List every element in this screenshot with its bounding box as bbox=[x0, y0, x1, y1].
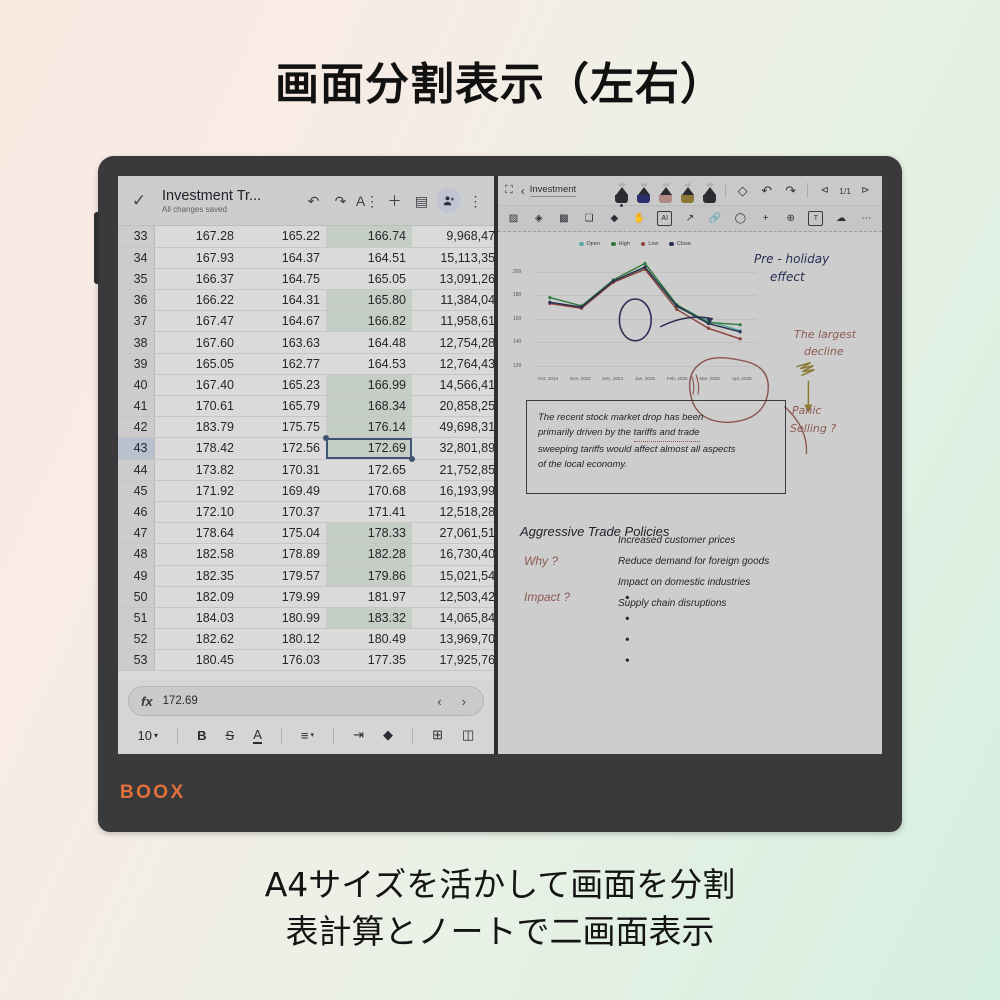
x-tick-label: Oct, 2024 bbox=[532, 376, 564, 381]
cell-c1[interactable]: 167.47 bbox=[154, 311, 240, 332]
pen-3-icon[interactable]: 1.0 bbox=[657, 179, 674, 203]
textbox-line-4: of the local economy. bbox=[538, 457, 774, 472]
divider bbox=[412, 727, 413, 744]
row-header[interactable]: 42 bbox=[118, 417, 154, 438]
check-icon[interactable]: ✓ bbox=[122, 191, 156, 211]
legend-swatch bbox=[641, 242, 646, 247]
cell-c4[interactable]: 12,503,422 bbox=[412, 586, 494, 607]
cell-c1[interactable]: 167.93 bbox=[154, 247, 240, 268]
cell-c3[interactable]: 166.99 bbox=[326, 374, 412, 395]
cell-c1[interactable]: 165.05 bbox=[154, 353, 240, 374]
cell-c4[interactable]: 21,752,859 bbox=[412, 459, 494, 480]
cell-c3[interactable]: 170.68 bbox=[326, 480, 412, 501]
cell-c4[interactable]: 12,518,282 bbox=[412, 501, 494, 522]
series-point bbox=[739, 330, 742, 333]
zoom-icon[interactable]: ⊕ bbox=[783, 211, 798, 226]
wrap-text-button[interactable]: ⇥ bbox=[353, 727, 364, 743]
table-row[interactable]: 35166.37164.75165.0513,091,267 bbox=[118, 268, 494, 289]
spreadsheet-pane: ✓ Investment Tr... All changes saved ↶ ↷… bbox=[118, 176, 494, 754]
cell-c4[interactable]: 32,801,898 bbox=[412, 438, 494, 459]
annotation-pre-holiday: Pre - holiday bbox=[754, 252, 829, 266]
series-point bbox=[612, 280, 615, 283]
cell-c2[interactable]: 176.03 bbox=[240, 650, 326, 671]
cell-c3[interactable]: 178.33 bbox=[326, 523, 412, 544]
x-tick-label: Mar, 2025 bbox=[693, 376, 725, 381]
cell-c3[interactable]: 180.49 bbox=[326, 629, 412, 650]
cell-c4[interactable]: 11,958,617 bbox=[412, 311, 494, 332]
divider bbox=[281, 727, 282, 744]
cell-c2[interactable]: 169.49 bbox=[240, 480, 326, 501]
cell-c3[interactable]: 166.82 bbox=[326, 311, 412, 332]
pen-body bbox=[637, 195, 650, 203]
cell-c1[interactable]: 180.45 bbox=[154, 650, 240, 671]
page-prev-icon[interactable]: ⊲ bbox=[815, 185, 834, 196]
handwritten-textbox: The recent stock market drop has been pr… bbox=[526, 400, 786, 494]
comment-icon[interactable]: ▤ bbox=[409, 194, 434, 208]
person-add-glyph bbox=[443, 195, 455, 207]
table-row[interactable]: 47178.64175.04178.3327,061,510 bbox=[118, 523, 494, 544]
series-line-low bbox=[550, 269, 740, 339]
cell-c4[interactable]: 15,021,549 bbox=[412, 565, 494, 586]
legend-item: Low bbox=[641, 241, 659, 247]
boox-logo: BOOX bbox=[120, 782, 186, 804]
table-row[interactable]: 46172.10170.37171.4112,518,282 bbox=[118, 501, 494, 522]
note-title: Investment bbox=[530, 184, 576, 197]
x-tick-label: Nov, 2024 bbox=[564, 376, 596, 381]
boox-device: ✓ Investment Tr... All changes saved ↶ ↷… bbox=[98, 156, 902, 832]
cell-c3[interactable]: 172.65 bbox=[326, 459, 412, 480]
caption-line-1: A4サイズを活かして画面を分割 bbox=[0, 862, 1000, 909]
cell-c2[interactable]: 170.31 bbox=[240, 459, 326, 480]
pen-body bbox=[659, 195, 672, 203]
table-row[interactable]: 52182.62180.12180.4913,969,709 bbox=[118, 629, 494, 650]
cell-c1[interactable]: 167.40 bbox=[154, 374, 240, 395]
shape-icon[interactable]: ❏ bbox=[582, 211, 597, 226]
page-indicator: 1/1 bbox=[839, 186, 851, 196]
row-header[interactable]: 45 bbox=[118, 480, 154, 501]
cell-c3[interactable]: 164.48 bbox=[326, 332, 412, 353]
x-tick-label: Dec, 2024 bbox=[597, 376, 629, 381]
cell-c3[interactable]: 171.41 bbox=[326, 501, 412, 522]
table-row[interactable]: 37167.47164.67166.8211,958,617 bbox=[118, 311, 494, 332]
undo-icon[interactable]: ↶ bbox=[301, 194, 326, 208]
legend-item: Open bbox=[579, 241, 600, 247]
cell-c3[interactable]: 168.34 bbox=[326, 396, 412, 417]
cell-c4[interactable]: 13,969,709 bbox=[412, 629, 494, 650]
cell-c1[interactable]: 167.60 bbox=[154, 332, 240, 353]
sheet-table: 33167.28165.22166.749,968,47434167.93164… bbox=[118, 226, 494, 671]
pen-nib bbox=[638, 187, 650, 195]
series-point bbox=[548, 301, 551, 304]
eraser-icon[interactable]: ◇ bbox=[733, 183, 752, 199]
cell-c3[interactable]: 182.28 bbox=[326, 544, 412, 565]
legend-swatch bbox=[669, 242, 674, 247]
redo-icon[interactable]: ↷ bbox=[781, 183, 800, 199]
pen-nib bbox=[682, 187, 694, 195]
caption-line-2: 表計算とノートで二画面表示 bbox=[0, 909, 1000, 956]
format-toolbar: 10 ▾ B S A ≡ ▾ ⇥ ◆ ⊞ ◫ bbox=[118, 716, 494, 754]
sheet-grid[interactable]: 33167.28165.22166.749,968,47434167.93164… bbox=[118, 226, 494, 680]
back-icon[interactable]: ‹ bbox=[521, 184, 525, 198]
outline-bullet-2: Reduce demand for foreign goods bbox=[618, 556, 769, 567]
cell-c2[interactable]: 180.12 bbox=[240, 629, 326, 650]
cell-c3[interactable]: 179.86 bbox=[326, 565, 412, 586]
font-size-value: 10 bbox=[138, 728, 152, 743]
cell-c3[interactable]: 172.69 bbox=[326, 438, 412, 459]
cell-c4[interactable]: 27,061,510 bbox=[412, 523, 494, 544]
table-row[interactable]: 41170.61165.79168.3420,858,254 bbox=[118, 396, 494, 417]
cell-c1[interactable]: 182.09 bbox=[154, 586, 240, 607]
note-toolbar: ⛶ ‹ Investment 1.01.01.01.01.0 ◇ ↶ ↷ ⊲ 1… bbox=[498, 176, 882, 206]
layers-icon[interactable]: ◈ bbox=[531, 211, 546, 226]
table-row[interactable]: 43178.42172.56172.6932,801,898 bbox=[118, 438, 494, 459]
gridline bbox=[534, 366, 756, 367]
annotation-panic: Panic bbox=[792, 404, 821, 417]
cell-c1[interactable]: 173.82 bbox=[154, 459, 240, 480]
strikethrough-button[interactable]: S bbox=[225, 728, 234, 743]
formula-bar[interactable]: fx 172.69 ‹ › bbox=[128, 686, 484, 716]
table-row[interactable]: 33167.28165.22166.749,968,474 bbox=[118, 226, 494, 247]
cell-c1[interactable]: 166.22 bbox=[154, 290, 240, 311]
chart-series-svg bbox=[534, 254, 756, 366]
cell-c1[interactable]: 178.64 bbox=[154, 523, 240, 544]
cell-c2[interactable]: 175.04 bbox=[240, 523, 326, 544]
pen-4-icon[interactable]: 1.0 bbox=[679, 179, 696, 203]
cell-c2[interactable]: 179.57 bbox=[240, 565, 326, 586]
pen-body bbox=[615, 195, 628, 203]
series-point bbox=[707, 327, 710, 330]
outline-bullet-1: Increased customer prices bbox=[618, 535, 735, 546]
annotation-largest-decline: The largest bbox=[794, 328, 856, 341]
note-pane: ⛶ ‹ Investment 1.01.01.01.01.0 ◇ ↶ ↷ ⊲ 1… bbox=[498, 176, 882, 754]
pen-nib bbox=[616, 187, 628, 195]
formula-next-button[interactable]: › bbox=[457, 694, 471, 709]
device-chin: BOOX bbox=[98, 754, 902, 832]
series-point bbox=[739, 323, 742, 326]
row-header[interactable]: 49 bbox=[118, 565, 154, 586]
lasso-select-icon[interactable]: ▩ bbox=[556, 211, 571, 226]
ink-bullet bbox=[626, 659, 629, 662]
add-icon[interactable]: ＋ bbox=[382, 194, 407, 208]
outline-impact: Impact ? bbox=[524, 590, 570, 604]
row-header[interactable]: 43 bbox=[118, 438, 154, 459]
pen-1-icon[interactable]: 1.0 bbox=[613, 179, 630, 203]
pen-2-icon[interactable]: 1.0 bbox=[635, 179, 652, 203]
row-header[interactable]: 47 bbox=[118, 523, 154, 544]
cell-c4[interactable]: 20,858,254 bbox=[412, 396, 494, 417]
cell-c1[interactable]: 184.03 bbox=[154, 607, 240, 628]
hand-touch-icon[interactable]: ✋ bbox=[632, 211, 647, 226]
cell-c2[interactable]: 179.99 bbox=[240, 586, 326, 607]
y-tick-label: 120 bbox=[513, 363, 521, 369]
cell-c1[interactable]: 166.37 bbox=[154, 268, 240, 289]
chart-legend: OpenHighLowClose bbox=[512, 238, 758, 247]
stock-chart: OpenHighLowClose 120140160180200 Oct, 20… bbox=[512, 238, 758, 384]
align-glyph: ≡ bbox=[301, 728, 309, 743]
cell-c2[interactable]: 165.79 bbox=[240, 396, 326, 417]
insert-column-button[interactable]: ◫ bbox=[462, 727, 474, 743]
legend-item: Close bbox=[669, 241, 691, 247]
legend-label: High bbox=[619, 241, 630, 247]
outline-why: Why ? bbox=[524, 554, 558, 568]
series-point bbox=[707, 322, 710, 325]
pen-nib bbox=[704, 187, 716, 195]
y-tick-label: 160 bbox=[513, 316, 521, 322]
text-color-button[interactable]: A bbox=[253, 727, 262, 744]
cell-c3[interactable]: 164.53 bbox=[326, 353, 412, 374]
row-header[interactable]: 34 bbox=[118, 247, 154, 268]
page-title: 画面分割表示（左右） bbox=[0, 48, 1000, 112]
cell-c4[interactable]: 14,065,845 bbox=[412, 607, 494, 628]
row-header[interactable]: 50 bbox=[118, 586, 154, 607]
cell-c2[interactable]: 164.67 bbox=[240, 311, 326, 332]
redo-icon[interactable]: ↷ bbox=[328, 194, 353, 208]
format-text-icon[interactable]: A⋮ bbox=[355, 194, 380, 208]
cell-c1[interactable]: 171.92 bbox=[154, 480, 240, 501]
align-button[interactable]: ≡ ▾ bbox=[301, 728, 314, 743]
cell-c4[interactable]: 11,384,047 bbox=[412, 290, 494, 311]
textbox-line-2b: tariffs and trade bbox=[634, 425, 700, 441]
cell-c2[interactable]: 165.22 bbox=[240, 226, 326, 247]
table-row[interactable]: 44173.82170.31172.6521,752,859 bbox=[118, 459, 494, 480]
cell-c4[interactable]: 16,193,994 bbox=[412, 480, 494, 501]
selection-handle[interactable] bbox=[323, 435, 329, 441]
textbox-line-2: primarily driven by the tariffs and trad… bbox=[538, 425, 774, 441]
pattern-fill-icon[interactable]: ▨ bbox=[506, 211, 521, 226]
merge-cells-button[interactable]: ⊞ bbox=[432, 727, 443, 743]
row-header[interactable]: 52 bbox=[118, 629, 154, 650]
divider bbox=[807, 183, 808, 198]
textbox-line-2a: primarily driven by the bbox=[538, 427, 634, 438]
row-header[interactable]: 36 bbox=[118, 290, 154, 311]
save-status: All changes saved bbox=[162, 205, 299, 214]
row-header[interactable]: 44 bbox=[118, 459, 154, 480]
x-tick-label: Feb, 2025 bbox=[661, 376, 693, 381]
table-row[interactable]: 40167.40165.23166.9914,566,410 bbox=[118, 374, 494, 395]
annotation-panic-2: Selling ? bbox=[790, 422, 836, 435]
cell-c4[interactable]: 16,730,407 bbox=[412, 544, 494, 565]
table-row[interactable]: 42183.79175.75176.1449,698,313 bbox=[118, 417, 494, 438]
cell-c1[interactable]: 182.58 bbox=[154, 544, 240, 565]
table-row[interactable]: 34167.93164.37164.5115,113,356 bbox=[118, 247, 494, 268]
share-person-icon[interactable] bbox=[436, 188, 461, 213]
legend-label: Close bbox=[677, 241, 691, 247]
legend-swatch bbox=[579, 242, 584, 247]
row-header[interactable]: 51 bbox=[118, 607, 154, 628]
table-row[interactable]: 50182.09179.99181.9712,503,422 bbox=[118, 586, 494, 607]
cell-c1[interactable]: 183.79 bbox=[154, 417, 240, 438]
cell-c1[interactable]: 182.62 bbox=[154, 629, 240, 650]
cell-c1[interactable]: 178.42 bbox=[154, 438, 240, 459]
text-box-icon[interactable]: T bbox=[808, 211, 823, 226]
legend-item: High bbox=[611, 241, 630, 247]
pen-body bbox=[681, 195, 694, 203]
divider bbox=[177, 727, 178, 744]
cell-c1[interactable]: 172.10 bbox=[154, 501, 240, 522]
table-row[interactable]: 51184.03180.99183.3214,065,845 bbox=[118, 607, 494, 628]
page-next-icon[interactable]: ⊳ bbox=[856, 185, 875, 196]
undo-icon[interactable]: ↶ bbox=[757, 183, 776, 199]
table-row[interactable]: 39165.05162.77164.5312,764,430 bbox=[118, 353, 494, 374]
cell-c4[interactable]: 9,968,474 bbox=[412, 226, 494, 247]
note-canvas[interactable]: OpenHighLowClose 120140160180200 Oct, 20… bbox=[498, 232, 882, 754]
speech-bubble-icon[interactable]: ◯ bbox=[733, 211, 748, 226]
outline-bullet-4: Supply chain disruptions bbox=[618, 598, 726, 609]
more-icon[interactable]: ⋯ bbox=[859, 211, 874, 226]
cell-c1[interactable]: 182.35 bbox=[154, 565, 240, 586]
table-row[interactable]: 49182.35179.57179.8615,021,549 bbox=[118, 565, 494, 586]
ink-lightning bbox=[796, 363, 814, 376]
cell-c3[interactable]: 166.74 bbox=[326, 226, 412, 247]
series-line-open bbox=[550, 268, 740, 331]
outline-bullet-3: Impact on domestic industries bbox=[618, 577, 750, 588]
pen-nib bbox=[660, 187, 672, 195]
row-header[interactable]: 38 bbox=[118, 332, 154, 353]
legend-label: Low bbox=[648, 241, 658, 247]
pen-body bbox=[703, 195, 716, 203]
cell-c2[interactable]: 164.75 bbox=[240, 268, 326, 289]
cell-c2[interactable]: 164.37 bbox=[240, 247, 326, 268]
cell-c4[interactable]: 13,091,267 bbox=[412, 268, 494, 289]
series-point bbox=[643, 262, 646, 265]
textbox-line-3: sweeping tariffs would affect almost all… bbox=[538, 442, 774, 457]
cell-c4[interactable]: 12,764,430 bbox=[412, 353, 494, 374]
series-point bbox=[675, 304, 678, 307]
cell-c3[interactable]: 177.35 bbox=[326, 650, 412, 671]
cell-c3[interactable]: 181.97 bbox=[326, 586, 412, 607]
cell-c1[interactable]: 167.28 bbox=[154, 226, 240, 247]
document-title: Investment Tr... bbox=[162, 188, 299, 204]
legend-swatch bbox=[611, 242, 616, 247]
x-tick-label: Jan, 2025 bbox=[629, 376, 661, 381]
legend-label: Open bbox=[587, 241, 600, 247]
cell-c4[interactable]: 15,113,356 bbox=[412, 247, 494, 268]
y-tick-label: 140 bbox=[513, 339, 521, 345]
cloud-sync-icon[interactable]: ☁ bbox=[834, 211, 849, 226]
series-point bbox=[739, 337, 742, 340]
chevron-down-icon: ▾ bbox=[311, 731, 315, 739]
cell-c2[interactable]: 178.89 bbox=[240, 544, 326, 565]
cell-c2[interactable]: 162.77 bbox=[240, 353, 326, 374]
ink-bullet bbox=[626, 617, 629, 620]
document-title-block: Investment Tr... All changes saved bbox=[158, 188, 299, 214]
cell-c3[interactable]: 165.80 bbox=[326, 290, 412, 311]
formula-value[interactable]: 172.69 bbox=[163, 695, 423, 707]
row-header[interactable]: 41 bbox=[118, 396, 154, 417]
row-header[interactable]: 37 bbox=[118, 311, 154, 332]
series-line-high bbox=[550, 263, 740, 324]
fill-color-button[interactable]: ◆ bbox=[383, 727, 393, 743]
chart-plot-area: 120140160180200 bbox=[534, 254, 756, 366]
cell-c2[interactable]: 170.37 bbox=[240, 501, 326, 522]
bold-button[interactable]: B bbox=[197, 728, 206, 743]
series-point bbox=[580, 305, 583, 308]
row-header[interactable]: 33 bbox=[118, 226, 154, 247]
font-size-selector[interactable]: 10 ▾ bbox=[138, 728, 158, 743]
table-row[interactable]: 36166.22164.31165.8011,384,047 bbox=[118, 290, 494, 311]
cell-c4[interactable]: 14,566,410 bbox=[412, 374, 494, 395]
row-header[interactable]: 48 bbox=[118, 544, 154, 565]
series-point bbox=[548, 296, 551, 299]
cell-c1[interactable]: 170.61 bbox=[154, 396, 240, 417]
device-screen: ✓ Investment Tr... All changes saved ↶ ↷… bbox=[118, 176, 882, 754]
chevron-down-icon: ▾ bbox=[154, 731, 158, 740]
link-icon[interactable]: 🔗 bbox=[708, 211, 723, 226]
cell-c4[interactable]: 17,925,763 bbox=[412, 650, 494, 671]
selection-handle[interactable] bbox=[409, 456, 415, 462]
table-row[interactable]: 45171.92169.49170.6816,193,994 bbox=[118, 480, 494, 501]
series-point bbox=[675, 308, 678, 311]
row-header[interactable]: 40 bbox=[118, 374, 154, 395]
chart-x-axis-labels: Oct, 2024Nov, 2024Dec, 2024Jan, 2025Feb,… bbox=[532, 376, 758, 381]
cell-c2[interactable]: 175.75 bbox=[240, 417, 326, 438]
cell-c2[interactable]: 165.23 bbox=[240, 374, 326, 395]
table-row[interactable]: 48182.58178.89182.2816,730,407 bbox=[118, 544, 494, 565]
textbox-line-1: The recent stock market drop has been bbox=[538, 410, 774, 425]
annotation-largest-decline-2: decline bbox=[804, 345, 844, 358]
x-tick-label: Apr, 2025 bbox=[726, 376, 758, 381]
ai-icon[interactable]: AI bbox=[657, 211, 672, 226]
divider bbox=[333, 727, 334, 744]
row-header[interactable]: 35 bbox=[118, 268, 154, 289]
fill-bucket-icon[interactable]: ◆ bbox=[607, 211, 622, 226]
cell-c2[interactable]: 172.56 bbox=[240, 438, 326, 459]
row-header[interactable]: 46 bbox=[118, 501, 154, 522]
expand-icon[interactable]: ⛶ bbox=[505, 184, 512, 197]
cell-c2[interactable]: 163.63 bbox=[240, 332, 326, 353]
formula-prev-button[interactable]: ‹ bbox=[432, 694, 446, 709]
pen-5-icon[interactable]: 1.0 bbox=[701, 179, 718, 203]
ink-bullet bbox=[626, 638, 629, 641]
cell-c4[interactable]: 12,754,283 bbox=[412, 332, 494, 353]
overflow-menu-icon[interactable]: ⋮ bbox=[463, 194, 488, 208]
cell-c2[interactable]: 164.31 bbox=[240, 290, 326, 311]
y-tick-label: 180 bbox=[513, 292, 521, 298]
series-point bbox=[643, 265, 646, 268]
table-row[interactable]: 53180.45176.03177.3517,925,763 bbox=[118, 650, 494, 671]
insert-page-icon[interactable]: + bbox=[758, 211, 773, 226]
cell-c3[interactable]: 183.32 bbox=[326, 607, 412, 628]
spreadsheet-header: ✓ Investment Tr... All changes saved ↶ ↷… bbox=[118, 176, 494, 226]
cell-c2[interactable]: 180.99 bbox=[240, 607, 326, 628]
divider bbox=[725, 183, 726, 198]
pen-group: 1.01.01.01.01.0 bbox=[613, 179, 718, 203]
row-header[interactable]: 53 bbox=[118, 650, 154, 671]
page-caption: A4サイズを活かして画面を分割 表計算とノートで二画面表示 bbox=[0, 862, 1000, 956]
cell-c3[interactable]: 164.51 bbox=[326, 247, 412, 268]
fx-icon: fx bbox=[141, 694, 153, 709]
annotation-pre-holiday-2: effect bbox=[770, 270, 805, 284]
y-tick-label: 200 bbox=[513, 269, 521, 275]
table-row[interactable]: 38167.60163.63164.4812,754,283 bbox=[118, 332, 494, 353]
cell-c3[interactable]: 165.05 bbox=[326, 268, 412, 289]
note-subtoolbar: ▨◈▩❏◆✋AI↗🔗◯+⊕T☁⋯ bbox=[498, 206, 882, 232]
row-header[interactable]: 39 bbox=[118, 353, 154, 374]
export-icon[interactable]: ↗ bbox=[682, 211, 697, 226]
cell-c4[interactable]: 49,698,313 bbox=[412, 417, 494, 438]
cell-c3[interactable]: 176.14 bbox=[326, 417, 412, 438]
